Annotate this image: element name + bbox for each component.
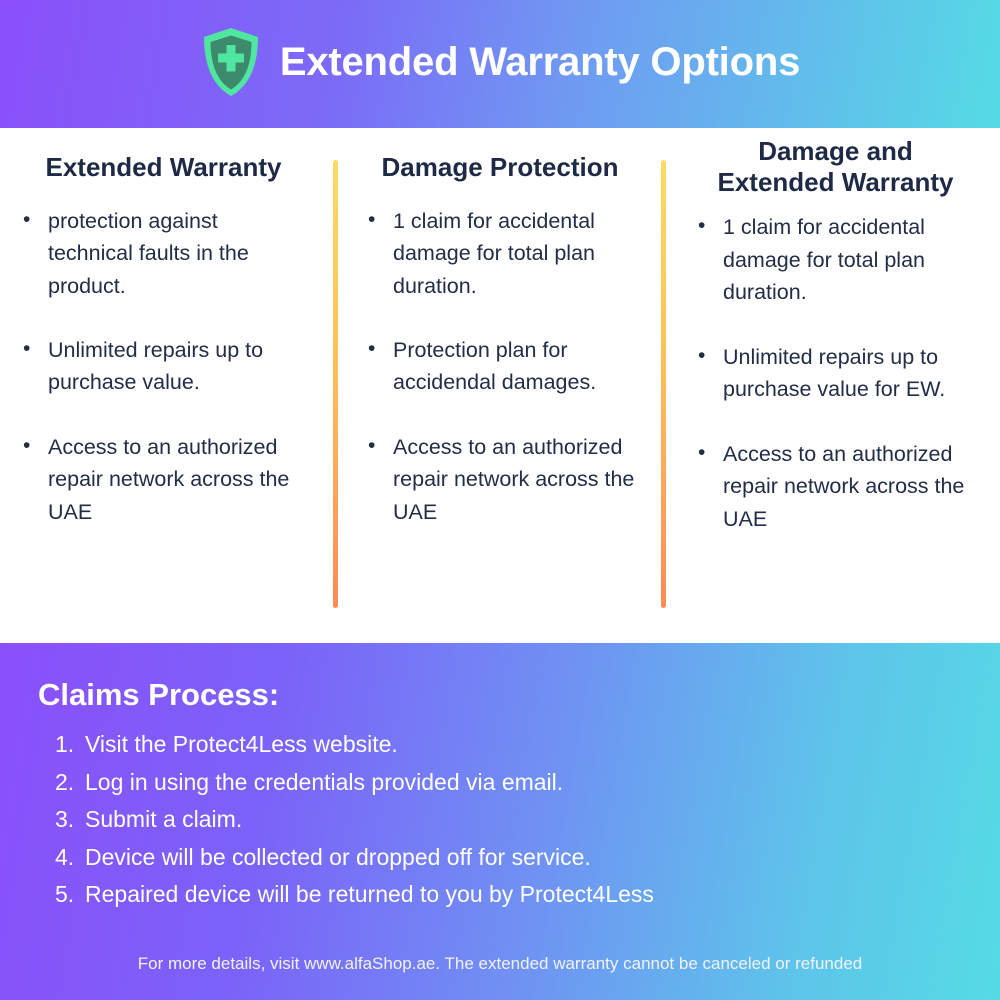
step-number: 1.	[55, 726, 85, 763]
claims-step-item: 3. Submit a claim.	[55, 801, 1000, 838]
step-text: Log in using the credentials provided vi…	[85, 764, 563, 801]
feature-list: 1 claim for accidental damage for total …	[365, 205, 635, 529]
column-heading-line-2: Extended Warranty	[718, 167, 954, 197]
claims-step-item: 2. Log in using the credentials provided…	[55, 764, 1000, 801]
feature-item: Access to an authorized repair network a…	[20, 431, 307, 528]
feature-item: protection against technical faults in t…	[20, 205, 307, 302]
header-banner: Extended Warranty Options	[0, 0, 1000, 128]
claims-process-banner: Claims Process: 1. Visit the Protect4Les…	[0, 643, 1000, 1000]
claims-step-item: 5. Repaired device will be returned to y…	[55, 876, 1000, 913]
step-text: Device will be collected or dropped off …	[85, 839, 591, 876]
footer-disclaimer: For more details, visit www.alfaShop.ae.…	[0, 954, 1000, 974]
claims-process-title: Claims Process:	[38, 678, 1000, 712]
feature-item: Access to an authorized repair network a…	[365, 431, 635, 528]
shield-plus-icon	[200, 26, 262, 98]
column-heading: Damage Protection	[365, 152, 635, 183]
feature-item: Access to an authorized repair network a…	[695, 438, 976, 535]
claims-step-list: 1. Visit the Protect4Less website. 2. Lo…	[0, 726, 1000, 913]
claims-step-item: 4. Device will be collected or dropped o…	[55, 839, 1000, 876]
step-number: 3.	[55, 801, 85, 838]
step-number: 5.	[55, 876, 85, 913]
claims-step-item: 1. Visit the Protect4Less website.	[55, 726, 1000, 763]
plan-column-extended-warranty: Extended Warranty protection against tec…	[0, 128, 333, 528]
step-number: 2.	[55, 764, 85, 801]
feature-item: 1 claim for accidental damage for total …	[365, 205, 635, 302]
page-title: Extended Warranty Options	[280, 42, 800, 82]
plan-column-damage-protection: Damage Protection 1 claim for accidental…	[333, 128, 661, 528]
column-heading: Extended Warranty	[20, 152, 307, 183]
feature-list: 1 claim for accidental damage for total …	[695, 211, 976, 535]
feature-item: Unlimited repairs up to purchase value f…	[695, 341, 976, 406]
column-heading-line-1: Damage and	[758, 136, 913, 166]
feature-list: protection against technical faults in t…	[20, 205, 307, 529]
feature-item: 1 claim for accidental damage for total …	[695, 211, 976, 308]
step-text: Submit a claim.	[85, 801, 242, 838]
feature-item: Unlimited repairs up to purchase value.	[20, 334, 307, 399]
step-number: 4.	[55, 839, 85, 876]
column-divider	[333, 160, 338, 608]
column-heading: Damage and Extended Warranty	[695, 136, 976, 197]
infographic-page: Extended Warranty Options Extended Warra…	[0, 0, 1000, 1000]
plan-column-damage-and-extended-warranty: Damage and Extended Warranty 1 claim for…	[661, 128, 1000, 535]
column-divider	[661, 160, 666, 608]
step-text: Repaired device will be returned to you …	[85, 876, 654, 913]
comparison-section: Extended Warranty protection against tec…	[0, 128, 1000, 643]
step-text: Visit the Protect4Less website.	[85, 726, 398, 763]
feature-item: Protection plan for accidendal damages.	[365, 334, 635, 399]
